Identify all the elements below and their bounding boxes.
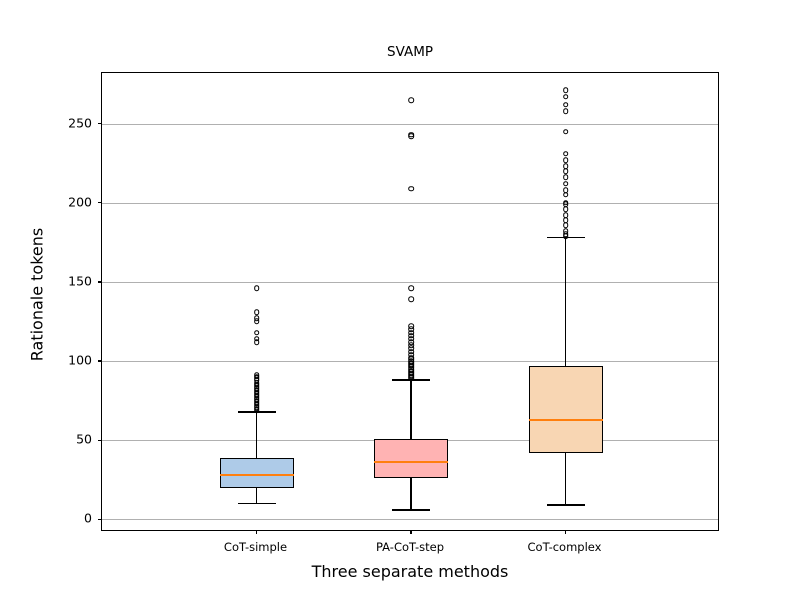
x-tick-label-cot-complex: CoT-complex <box>485 540 645 554</box>
y-tick-label: 50 <box>46 432 92 447</box>
y-tick-labels-layer: 050100150200250 <box>0 0 800 600</box>
y-tick-label: 100 <box>46 353 92 368</box>
y-tick-label: 200 <box>46 194 92 209</box>
x-axis-label: Three separate methods <box>101 562 719 581</box>
y-tick-label: 150 <box>46 273 92 288</box>
y-tick-label: 250 <box>46 115 92 130</box>
x-tick-label-pa-cot-step: PA-CoT-step <box>330 540 490 554</box>
y-tick-label: 0 <box>46 511 92 526</box>
figure-canvas: SVAMP 050100150200250 CoT-simplePA-CoT-s… <box>0 0 800 600</box>
y-axis-label: Rationale tokens <box>28 165 47 425</box>
x-tick-label-cot-simple: CoT-simple <box>176 540 336 554</box>
